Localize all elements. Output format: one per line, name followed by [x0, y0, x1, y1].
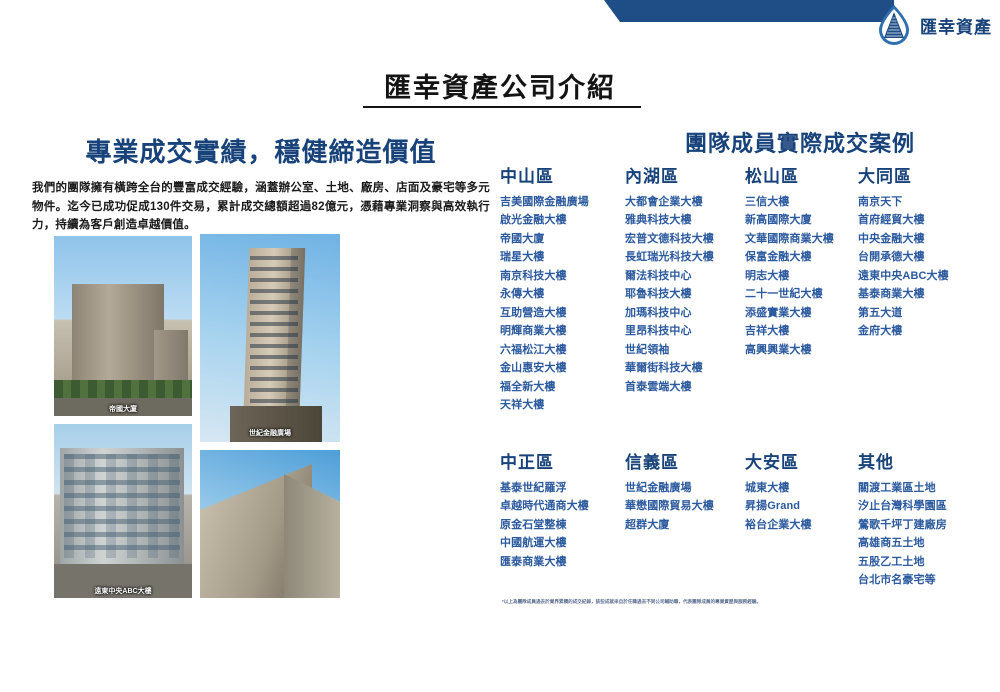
district-name: 松山區: [745, 162, 858, 187]
list-item: 高雄商五土地: [858, 534, 998, 552]
list-item: 華懋國際貿易大樓: [625, 497, 745, 515]
left-heading: 專業成交實績，穩健締造價值: [30, 132, 492, 169]
photo-collage: 帝國大廈 遠東中央ABC大樓 世紀金融廣場: [52, 232, 342, 600]
list-item: 世紀領袖: [625, 341, 745, 359]
page-title-underline: [363, 106, 641, 108]
water-drop-building-icon: [874, 4, 914, 46]
list-item: 福全新大樓: [500, 378, 625, 396]
list-item: 超群大廈: [625, 516, 745, 534]
list-item: 三信大樓: [745, 193, 858, 211]
district-grid-bottom: 中正區 基泰世紀羅浮 卓越時代通商大樓 原金石堂整棟 中國航運大樓 匯泰商業大樓…: [500, 448, 1000, 590]
district-name: 內湖區: [625, 162, 745, 187]
list-item: 昇揚Grand: [745, 497, 858, 515]
list-item: 文華國際商業大樓: [745, 230, 858, 248]
district-name: 大同區: [858, 162, 998, 187]
list-item: 汐止台灣科學園區: [858, 497, 998, 515]
list-item: 遠東中央ABC大樓: [858, 267, 998, 285]
list-item: 卓越時代通商大樓: [500, 497, 625, 515]
header-banner-bar: [604, 0, 894, 22]
district-list: 大都會企業大樓 雅典科技大樓 宏普文德科技大樓 長虹瑞光科技大樓 爾法科技中心 …: [625, 193, 745, 396]
list-item: 台北市名豪宅等: [858, 571, 998, 589]
list-item: 長虹瑞光科技大樓: [625, 248, 745, 266]
right-heading: 團隊成員實際成交案例: [605, 126, 995, 158]
photo-caption: 帝國大廈: [54, 404, 192, 414]
page-title: 匯幸資產公司介紹: [0, 66, 1000, 105]
list-item: 基泰商業大樓: [858, 285, 998, 303]
list-item: 明志大樓: [745, 267, 858, 285]
list-item: 鶯歌千坪丁建廠房: [858, 516, 998, 534]
list-item: 新高國際大廈: [745, 211, 858, 229]
list-item: 保富金融大樓: [745, 248, 858, 266]
district-name: 信義區: [625, 448, 745, 473]
list-item: 匯泰商業大樓: [500, 553, 625, 571]
photo-office-block: 遠東中央ABC大樓: [52, 422, 194, 600]
district-name: 大安區: [745, 448, 858, 473]
list-item: 首府經貿大樓: [858, 211, 998, 229]
list-item: 華爾街科技大樓: [625, 359, 745, 377]
list-item: 世紀金融廣場: [625, 479, 745, 497]
list-item: 金山惠安大樓: [500, 359, 625, 377]
district-list: 關渡工業區土地 汐止台灣科學園區 鶯歌千坪丁建廠房 高雄商五土地 五股乙工土地 …: [858, 479, 998, 590]
district-daan: 大安區 城東大樓 昇揚Grand 裕台企業大樓: [745, 448, 858, 590]
district-list: 基泰世紀羅浮 卓越時代通商大樓 原金石堂整棟 中國航運大樓 匯泰商業大樓: [500, 479, 625, 571]
list-item: 城東大樓: [745, 479, 858, 497]
photo-classic-tower: 帝國大廈: [52, 234, 194, 418]
right-panel: 團隊成員實際成交案例 中山區 吉美國際金融廣場 啟光金融大樓 帝國大廈 瑞星大樓…: [500, 126, 1000, 626]
photo-caption: 遠東中央ABC大樓: [54, 586, 192, 596]
brand-logo: 匯幸資產: [874, 2, 992, 48]
district-zhongzheng: 中正區 基泰世紀羅浮 卓越時代通商大樓 原金石堂整棟 中國航運大樓 匯泰商業大樓: [500, 448, 625, 590]
list-item: 關渡工業區土地: [858, 479, 998, 497]
left-panel: 專業成交實績，穩健締造價值 我們的團隊擁有橫跨全台的豐富成交經驗，涵蓋辦公室、土…: [30, 132, 492, 235]
photo-caption: 世紀金融廣場: [198, 428, 342, 598]
list-item: 爾法科技中心: [625, 267, 745, 285]
photo-modern-tower: [198, 232, 342, 444]
list-item: 互助營造大樓: [500, 304, 625, 322]
left-body-text: 我們的團隊擁有橫跨全台的豐富成交經驗，涵蓋辦公室、土地、廠房、店面及豪宅等多元物…: [30, 179, 492, 235]
list-item: 金府大樓: [858, 322, 998, 340]
district-others: 其他 關渡工業區土地 汐止台灣科學園區 鶯歌千坪丁建廠房 高雄商五土地 五股乙工…: [858, 448, 998, 590]
list-item: 中央金融大樓: [858, 230, 998, 248]
list-item: 吉美國際金融廣場: [500, 193, 625, 211]
list-item: 啟光金融大樓: [500, 211, 625, 229]
list-item: 二十一世紀大樓: [745, 285, 858, 303]
list-item: 基泰世紀羅浮: [500, 479, 625, 497]
list-item: 高興興業大樓: [745, 341, 858, 359]
list-item: 里昂科技中心: [625, 322, 745, 340]
footnote-disclaimer: *以上為團隊成員過去於業界累積的成交紀錄，該些成就來自於任職過去不同公司輔助職，…: [502, 599, 972, 606]
list-item: 大都會企業大樓: [625, 193, 745, 211]
list-item: 耶魯科技大樓: [625, 285, 745, 303]
list-item: 首泰雲端大樓: [625, 378, 745, 396]
list-item: 原金石堂整棟: [500, 516, 625, 534]
district-list: 城東大樓 昇揚Grand 裕台企業大樓: [745, 479, 858, 534]
district-neihu: 內湖區 大都會企業大樓 雅典科技大樓 宏普文德科技大樓 長虹瑞光科技大樓 爾法科…: [625, 162, 745, 415]
list-item: 永傳大樓: [500, 285, 625, 303]
list-item: 添盛實業大樓: [745, 304, 858, 322]
list-item: 帝國大廈: [500, 230, 625, 248]
district-name: 中正區: [500, 448, 625, 473]
list-item: 六福松江大樓: [500, 341, 625, 359]
district-list: 南京天下 首府經貿大樓 中央金融大樓 台開承德大樓 遠東中央ABC大樓 基泰商業…: [858, 193, 998, 341]
district-songshan: 松山區 三信大樓 新高國際大廈 文華國際商業大樓 保富金融大樓 明志大樓 二十一…: [745, 162, 858, 415]
district-list: 世紀金融廣場 華懋國際貿易大樓 超群大廈: [625, 479, 745, 534]
district-name: 其他: [858, 448, 998, 473]
district-zhongshan: 中山區 吉美國際金融廣場 啟光金融大樓 帝國大廈 瑞星大樓 南京科技大樓 永傳大…: [500, 162, 625, 415]
list-item: 吉祥大樓: [745, 322, 858, 340]
list-item: 台開承德大樓: [858, 248, 998, 266]
list-item: 南京科技大樓: [500, 267, 625, 285]
list-item: 天祥大樓: [500, 396, 625, 414]
district-grid-top: 中山區 吉美國際金融廣場 啟光金融大樓 帝國大廈 瑞星大樓 南京科技大樓 永傳大…: [500, 162, 1000, 415]
list-item: 中國航運大樓: [500, 534, 625, 552]
district-xinyi: 信義區 世紀金融廣場 華懋國際貿易大樓 超群大廈: [625, 448, 745, 590]
list-item: 南京天下: [858, 193, 998, 211]
brand-logo-text: 匯幸資產: [920, 13, 992, 38]
list-item: 宏普文德科技大樓: [625, 230, 745, 248]
district-name: 中山區: [500, 162, 625, 187]
list-item: 裕台企業大樓: [745, 516, 858, 534]
district-list: 吉美國際金融廣場 啟光金融大樓 帝國大廈 瑞星大樓 南京科技大樓 永傳大樓 互助…: [500, 193, 625, 415]
district-datong: 大同區 南京天下 首府經貿大樓 中央金融大樓 台開承德大樓 遠東中央ABC大樓 …: [858, 162, 998, 415]
list-item: 雅典科技大樓: [625, 211, 745, 229]
list-item: 第五大道: [858, 304, 998, 322]
list-item: 五股乙工土地: [858, 553, 998, 571]
list-item: 明輝商業大樓: [500, 322, 625, 340]
list-item: 加瑪科技中心: [625, 304, 745, 322]
list-item: 瑞星大樓: [500, 248, 625, 266]
district-list: 三信大樓 新高國際大廈 文華國際商業大樓 保富金融大樓 明志大樓 二十一世紀大樓…: [745, 193, 858, 359]
